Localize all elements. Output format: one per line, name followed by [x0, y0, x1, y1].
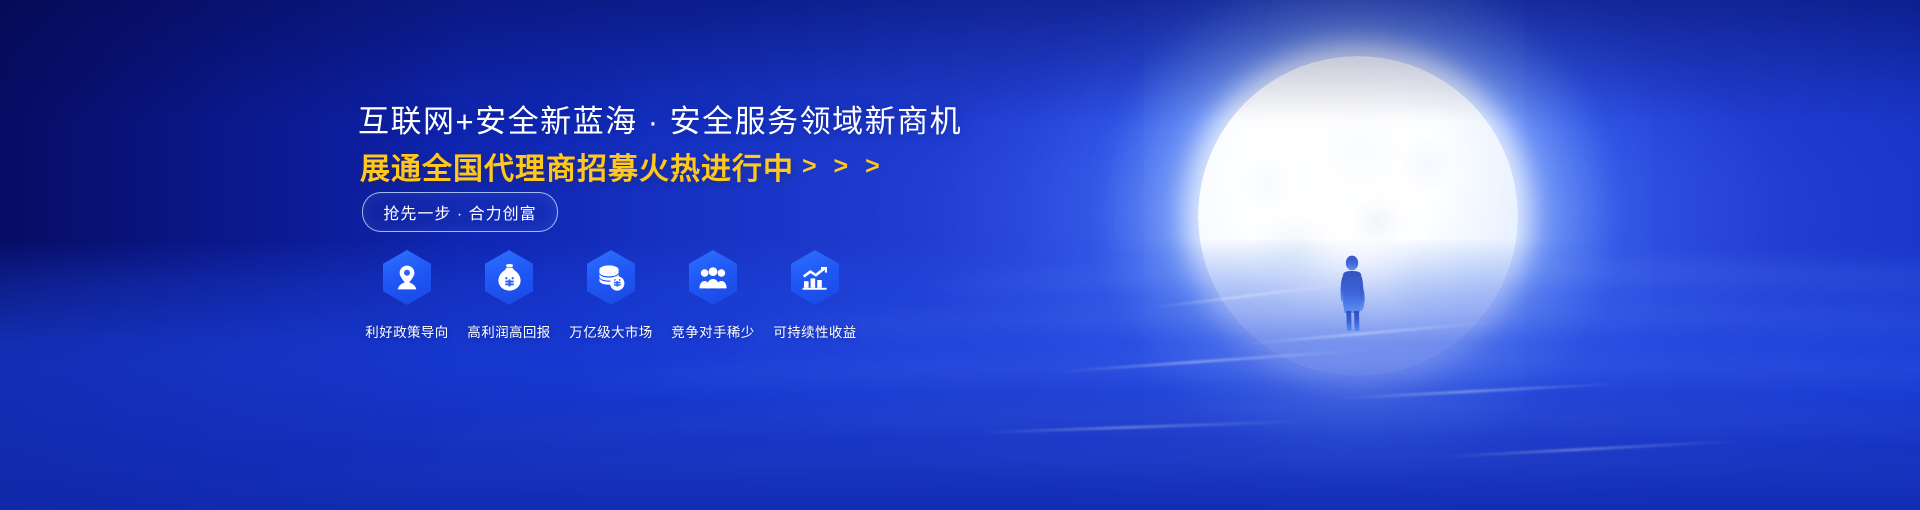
feature-item[interactable]: 万亿级大市场: [560, 250, 662, 341]
feature-item[interactable]: 高利润高回报: [458, 250, 560, 341]
feature-item[interactable]: 竞争对手稀少: [662, 250, 764, 341]
feature-item[interactable]: 利好政策导向: [356, 250, 458, 341]
feature-item[interactable]: 可持续性收益: [764, 250, 866, 341]
feature-label: 万亿级大市场: [569, 321, 652, 341]
feature-hex-badge: [689, 250, 737, 305]
people-group-icon: [699, 267, 727, 289]
promotional-banner: 互联网+安全新蓝海 · 安全服务领域新商机 展通全国代理商招募火热进行中 > >…: [0, 0, 1920, 510]
feature-label: 竞争对手稀少: [671, 321, 754, 341]
slogan-pill-label: 抢先一步 · 合力创富: [383, 200, 536, 224]
subheadline: 展通全国代理商招募火热进行中 > > >: [360, 144, 885, 188]
feature-hex-badge: [383, 250, 431, 305]
slogan-pill-button[interactable]: 抢先一步 · 合力创富: [362, 192, 558, 232]
coin-stack-yuan-icon: [598, 265, 625, 291]
location-pin-icon: [395, 265, 419, 291]
feature-label: 利好政策导向: [365, 321, 448, 341]
banner-content: 互联网+安全新蓝海 · 安全服务领域新商机 展通全国代理商招募火热进行中 > >…: [0, 0, 1920, 510]
feature-list: 利好政策导向 高利润: [356, 250, 866, 341]
chevron-right-arrows-icon: > > >: [802, 152, 885, 181]
feature-hex-badge: [791, 250, 839, 305]
feature-label: 可持续性收益: [773, 321, 856, 341]
subheadline-text: 展通全国代理商招募火热进行中: [360, 144, 794, 188]
money-bag-yuan-icon: [497, 264, 522, 291]
bar-chart-growth-icon: [802, 266, 828, 290]
feature-hex-badge: [587, 250, 635, 305]
headline: 互联网+安全新蓝海 · 安全服务领域新商机: [358, 96, 962, 141]
feature-label: 高利润高回报: [467, 321, 550, 341]
feature-hex-badge: [485, 250, 533, 305]
